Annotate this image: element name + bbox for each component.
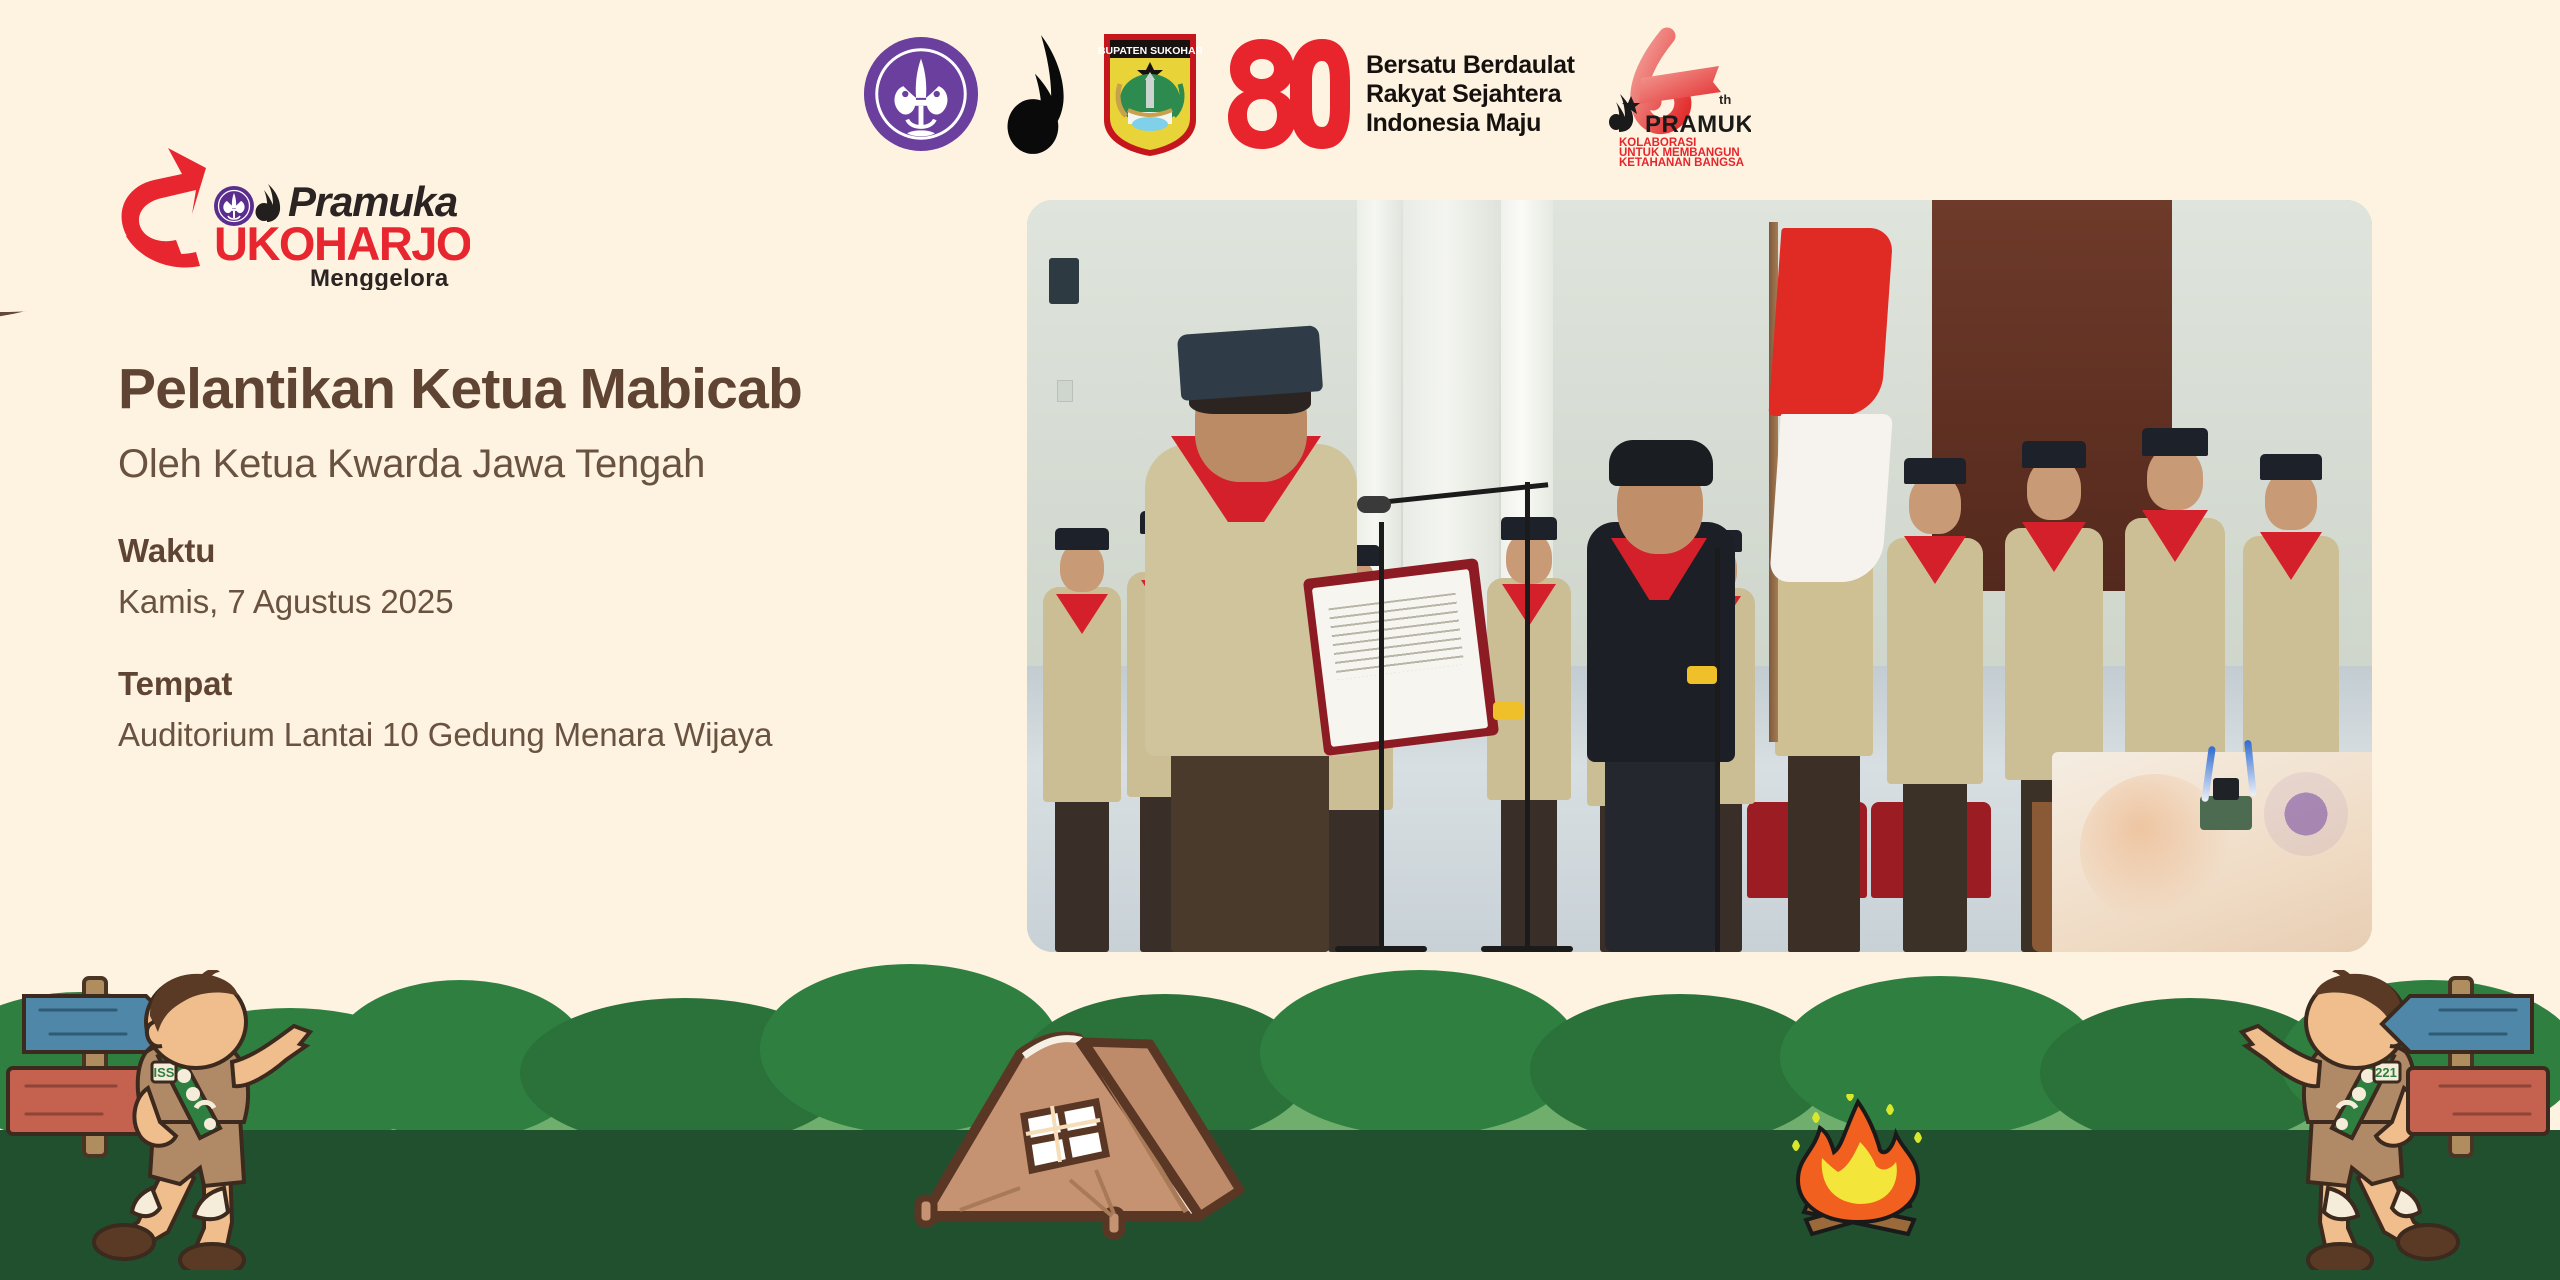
- hill-dark-foreground: [0, 1130, 2560, 1280]
- hut-80-tagline-line-3: Indonesia Maju: [1366, 109, 1575, 138]
- ceremony-photo: [1027, 200, 2372, 952]
- tunas-kelapa-icon: [1006, 29, 1072, 159]
- microphone-clip: [1687, 666, 1717, 684]
- signpost-right: [2360, 950, 2550, 1160]
- svg-text:KABUPATEN SUKOHARJO: KABUPATEN SUKOHARJO: [1098, 45, 1202, 57]
- wall-panel: [1057, 380, 1073, 402]
- hut-pramuka-64-logo: th PRAMUKA KOLABORASI UNTUK MEMBANGUN KE…: [1601, 20, 1751, 168]
- pramuka-sukoharjo-menggelora-logo: Pramuka UKOHARJO Menggelora: [110, 140, 470, 290]
- svg-text:th: th: [1719, 92, 1731, 107]
- field-tempat-value: Auditorium Lantai 10 Gedung Menara Wijay…: [118, 716, 978, 754]
- attendee: [1043, 482, 1121, 952]
- indonesian-flag-red-band: [1768, 228, 1893, 416]
- scout-badge-left-text: ISS: [154, 1065, 175, 1080]
- official: [1887, 422, 1983, 952]
- indonesian-flag-white-band: [1769, 414, 1893, 582]
- camping-illustration: ISS: [0, 920, 2560, 1280]
- field-waktu: Waktu Kamis, 7 Agustus 2025: [118, 532, 978, 621]
- scout-character-left: ISS: [72, 970, 342, 1270]
- svg-text:Menggelora: Menggelora: [310, 265, 449, 290]
- ketua-kwarda-reading: [1145, 332, 1357, 952]
- microphone-clip: [1493, 702, 1523, 720]
- hut-80-tagline-line-2: Rakyat Sejahtera: [1366, 80, 1575, 109]
- svg-text:UKOHARJO: UKOHARJO: [214, 217, 470, 270]
- page-title: Pelantikan Ketua Mabicab: [118, 358, 978, 422]
- campfire-illustration: [1768, 1094, 1948, 1254]
- hut-ri-80-logo: Bersatu Berdaulat Rakyat Sejahtera Indon…: [1228, 35, 1575, 153]
- poster-canvas: KABUPATEN SUKOHARJO Bersatu Berd: [0, 0, 2560, 1280]
- microphone-stand: [1525, 482, 1530, 952]
- tent-illustration: [900, 1020, 1250, 1252]
- page-subtitle: Oleh Ketua Kwarda Jawa Tengah: [118, 440, 978, 488]
- microphone-stand: [1715, 548, 1720, 952]
- wall-speaker-icon: [1049, 258, 1079, 304]
- table-emblem: [2264, 772, 2348, 856]
- event-details: Pelantikan Ketua Mabicab Oleh Ketua Kwar…: [118, 358, 978, 754]
- kabupaten-sukoharjo-crest-icon: KABUPATEN SUKOHARJO: [1098, 28, 1202, 160]
- inkwell: [2200, 796, 2252, 830]
- hut-80-numeral-icon: [1228, 35, 1350, 153]
- hut-80-tagline-line-1: Bersatu Berdaulat: [1366, 51, 1575, 80]
- microphone-head-icon: [1357, 496, 1391, 513]
- field-waktu-label: Waktu: [118, 532, 978, 570]
- microphone-stand: [1379, 522, 1384, 952]
- wosm-world-scout-emblem-icon: [862, 35, 980, 153]
- hut-80-tagline: Bersatu Berdaulat Rakyat Sejahtera Indon…: [1366, 51, 1575, 138]
- svg-text:PRAMUKA: PRAMUKA: [1645, 111, 1751, 138]
- ceremony-photo-content: [1027, 200, 2372, 952]
- field-waktu-value: Kamis, 7 Agustus 2025: [118, 583, 978, 621]
- bush: [1260, 970, 1580, 1136]
- field-tempat: Tempat Auditorium Lantai 10 Gedung Menar…: [118, 665, 978, 754]
- field-tempat-label: Tempat: [118, 665, 978, 703]
- logo-strip: KABUPATEN SUKOHARJO Bersatu Berd: [862, 14, 1751, 174]
- svg-text:KETAHANAN BANGSA: KETAHANAN BANGSA: [1619, 157, 1744, 168]
